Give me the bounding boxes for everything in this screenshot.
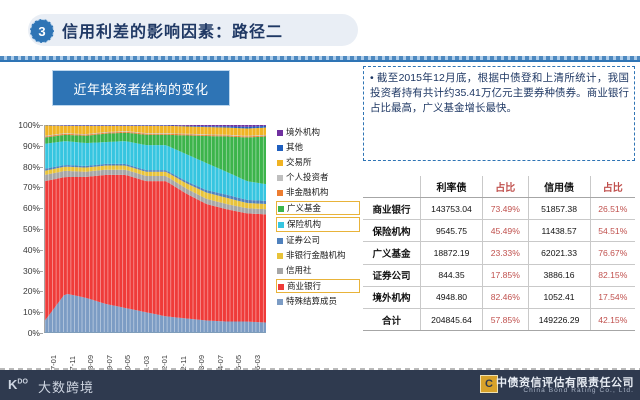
y-axis-tick	[38, 146, 43, 147]
table-header: 利率债 占比 信用债 占比	[363, 176, 635, 198]
cell-credit-bond: 11438.57	[528, 220, 590, 242]
legend-swatch-icon	[277, 160, 283, 166]
cell-credit-pct: 17.54%	[590, 286, 635, 308]
summary-note-box: • 截至2015年12月底，根据中债登和上清所统计，我国投资者持有共计约35.4…	[363, 66, 635, 161]
investor-structure-chart: 100%90%80%70%60%50%40%30%20%10%0% 2007-0…	[6, 118, 276, 383]
cell-credit-pct: 82.15%	[590, 264, 635, 286]
chart-y-axis: 100%90%80%70%60%50%40%30%20%10%0%	[6, 118, 42, 333]
table-body: 商业银行143753.0473.49%51857.3826.51%保险机构954…	[363, 198, 635, 331]
cell-rate-pct: 57.85%	[482, 308, 528, 330]
daoshu-logo-sup: DO	[17, 379, 28, 386]
table-row: 境外机构4948.8082.46%1052.4117.54%	[363, 286, 635, 308]
legend-item-非银行金融机构[interactable]: 非银行金融机构	[276, 249, 360, 262]
legend-swatch-icon	[278, 222, 284, 228]
cell-credit-pct: 42.15%	[590, 308, 635, 330]
legend-item-境外机构[interactable]: 境外机构	[276, 126, 360, 139]
y-axis-tick	[38, 271, 43, 272]
legend-item-label: 广义基金	[287, 203, 321, 213]
footer-company-name-en: China Bond Rating Co., Ltd.	[523, 387, 634, 394]
table-header-row: 利率债 占比 信用债 占比	[363, 176, 635, 198]
cell-rate-pct: 23.33%	[482, 242, 528, 264]
table-row: 保险机构9545.7545.49%11438.5754.51%	[363, 220, 635, 242]
page-title: 信用利差的影响因素：路径二	[62, 18, 283, 42]
legend-item-label: 个人投资者	[286, 172, 329, 182]
cell-rate-bond: 844.35	[421, 264, 483, 286]
y-axis-tick	[38, 208, 43, 209]
legend-item-其他[interactable]: 其他	[276, 141, 360, 154]
cell-rate-bond: 204845.64	[421, 308, 483, 330]
legend-swatch-icon	[277, 175, 283, 181]
legend-item-特殊结算成员[interactable]: 特殊结算成员	[276, 295, 360, 308]
legend-item-label: 交易所	[286, 157, 312, 167]
chart-caption-box: 近年投资者结构的变化	[52, 70, 230, 106]
daoshu-logo-icon: KDO	[8, 377, 28, 392]
col-header-credit-pct: 占比	[590, 176, 635, 198]
y-axis-tick	[38, 312, 43, 313]
cell-credit-pct: 76.67%	[590, 242, 635, 264]
legend-item-label: 信用社	[286, 265, 312, 275]
cell-institution: 证券公司	[363, 264, 421, 286]
header-divider-solid	[0, 60, 640, 62]
cell-institution: 广义基金	[363, 242, 421, 264]
cell-credit-bond: 3886.16	[528, 264, 590, 286]
y-axis-tick	[38, 167, 43, 168]
y-axis-tick	[38, 291, 43, 292]
cell-credit-bond: 51857.38	[528, 198, 590, 220]
y-axis-tick-label: 100%	[18, 120, 40, 130]
cell-rate-pct: 82.46%	[482, 286, 528, 308]
footer-left-brand: 大数跨境	[38, 377, 94, 396]
y-axis-tick	[38, 229, 43, 230]
legend-item-label: 保险机构	[287, 219, 321, 229]
legend-swatch-icon	[278, 284, 284, 290]
cell-institution: 保险机构	[363, 220, 421, 242]
cell-rate-bond: 9545.75	[421, 220, 483, 242]
cell-rate-bond: 18872.19	[421, 242, 483, 264]
legend-item-广义基金[interactable]: 广义基金	[276, 201, 360, 215]
cell-rate-pct: 45.49%	[482, 220, 528, 242]
bond-holdings-table: 利率债 占比 信用债 占比 商业银行143753.0473.49%51857.3…	[363, 176, 635, 331]
slide-footer: KDO 大数跨境 C 中债资信评估有限责任公司 China Bond Ratin…	[0, 370, 640, 400]
stacked-area-series	[45, 125, 266, 333]
col-header-rate-bond: 利率债	[421, 176, 483, 198]
cell-credit-bond: 1052.41	[528, 286, 590, 308]
cell-institution: 商业银行	[363, 198, 421, 220]
legend-swatch-icon	[277, 190, 283, 196]
y-axis-tick	[38, 125, 43, 126]
legend-item-label: 非银行金融机构	[286, 250, 346, 260]
cell-institution: 合计	[363, 308, 421, 330]
legend-swatch-icon	[277, 238, 283, 244]
legend-item-label: 商业银行	[287, 281, 321, 291]
col-header-credit-bond: 信用债	[528, 176, 590, 198]
legend-swatch-icon	[277, 268, 283, 274]
legend-swatch-icon	[277, 299, 283, 305]
col-header-rate-pct: 占比	[482, 176, 528, 198]
legend-item-非金融机构[interactable]: 非金融机构	[276, 186, 360, 199]
legend-swatch-icon	[277, 145, 283, 151]
section-number-badge: 3	[30, 19, 54, 43]
legend-item-个人投资者[interactable]: 个人投资者	[276, 171, 360, 184]
y-axis-tick	[38, 333, 43, 334]
y-axis-tick	[38, 187, 43, 188]
cell-credit-bond: 149226.29	[528, 308, 590, 330]
legend-item-商业银行[interactable]: 商业银行	[276, 279, 360, 293]
cell-credit-bond: 62021.33	[528, 242, 590, 264]
table-row: 证券公司844.3517.85%3886.1682.15%	[363, 264, 635, 286]
legend-swatch-icon	[278, 206, 284, 212]
table-row: 合计204845.6457.85%149226.2942.15%	[363, 308, 635, 330]
legend-item-label: 非金融机构	[286, 187, 329, 197]
legend-item-label: 证券公司	[286, 235, 320, 245]
chart-plot-area	[44, 125, 266, 333]
cell-rate-bond: 143753.04	[421, 198, 483, 220]
slide-root: 3 信用利差的影响因素：路径二 近年投资者结构的变化 • 截至2015年12月底…	[0, 0, 640, 400]
cell-rate-pct: 17.85%	[482, 264, 528, 286]
legend-item-label: 境外机构	[286, 127, 320, 137]
cell-rate-pct: 73.49%	[482, 198, 528, 220]
table-row: 广义基金18872.1923.33%62021.3376.67%	[363, 242, 635, 264]
legend-item-证券公司[interactable]: 证券公司	[276, 234, 360, 247]
legend-item-label: 特殊结算成员	[286, 296, 337, 306]
chart-legend: 境外机构其他交易所个人投资者非金融机构广义基金保险机构证券公司非银行金融机构信用…	[276, 126, 360, 310]
legend-item-信用社[interactable]: 信用社	[276, 264, 360, 277]
y-axis-tick	[38, 250, 43, 251]
legend-swatch-icon	[277, 253, 283, 259]
legend-swatch-icon	[277, 130, 283, 136]
legend-item-交易所[interactable]: 交易所	[276, 156, 360, 169]
cell-rate-bond: 4948.80	[421, 286, 483, 308]
cell-credit-pct: 26.51%	[590, 198, 635, 220]
cell-credit-pct: 54.51%	[590, 220, 635, 242]
table-row: 商业银行143753.0473.49%51857.3826.51%	[363, 198, 635, 220]
cell-institution: 境外机构	[363, 286, 421, 308]
slide-header: 3 信用利差的影响因素：路径二	[0, 0, 640, 58]
col-header-blank	[363, 176, 421, 198]
legend-item-label: 其他	[286, 142, 303, 152]
legend-item-保险机构[interactable]: 保险机构	[276, 217, 360, 231]
